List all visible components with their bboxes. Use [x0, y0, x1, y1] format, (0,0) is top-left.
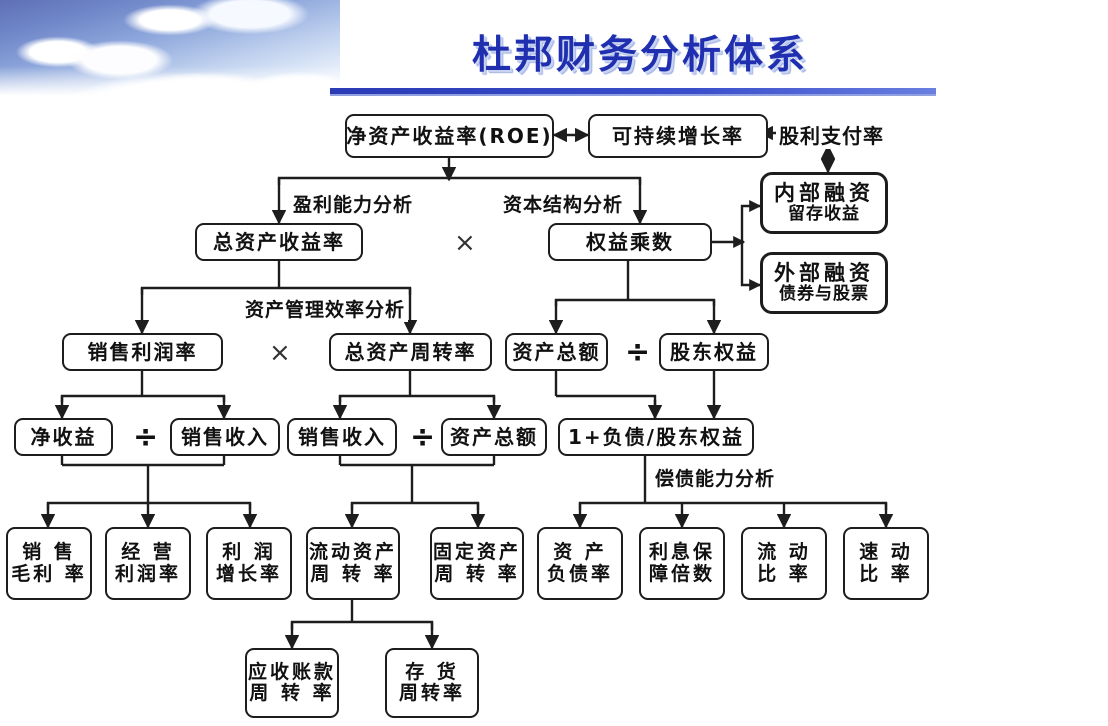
node-fixed-asset-turnover-line2: 周 转 率	[434, 564, 519, 585]
node-roa[interactable]: 总资产收益率	[195, 223, 363, 261]
node-current-asset-turnover-line1: 流动资产	[309, 542, 397, 563]
node-receivables-turnover-line1: 应收账款	[248, 662, 336, 683]
node-external-financing-line2: 债券与股票	[779, 285, 869, 304]
node-current-ratio[interactable]: 流 动 比 率	[741, 527, 827, 600]
node-equity-multiplier-label: 权益乘数	[586, 231, 674, 253]
node-quick-ratio-line2: 比 率	[859, 564, 913, 585]
node-shareholders-equity[interactable]: 股东权益	[659, 333, 769, 371]
node-fixed-asset-turnover-line1: 固定资产	[433, 542, 521, 563]
node-internal-financing[interactable]: 内部融资 留存收益	[760, 172, 888, 234]
node-gross-margin-line2: 毛利 率	[11, 564, 87, 585]
label-solvency-analysis: 偿债能力分析	[652, 464, 778, 491]
node-revenue-2[interactable]: 销售收入	[287, 418, 397, 456]
node-shareholders-equity-label: 股东权益	[670, 341, 758, 363]
node-inventory-turnover-line2: 周转率	[399, 683, 465, 704]
node-current-ratio-line2: 比 率	[757, 564, 811, 585]
node-roe-label: 净资产收益率(ROE)	[346, 125, 552, 147]
node-quick-ratio-line1: 速 动	[859, 542, 913, 563]
node-net-profit-margin-label: 销售利润率	[88, 341, 198, 363]
node-debt-ratio[interactable]: 资 产 负债率	[537, 527, 623, 600]
node-debt-ratio-line1: 资 产	[553, 542, 607, 563]
node-interest-coverage-line2: 障倍数	[649, 564, 715, 585]
node-debt-to-equity[interactable]: 1+负债/股东权益	[558, 418, 754, 456]
node-total-asset-turnover[interactable]: 总资产周转率	[329, 333, 492, 371]
node-sustainable-growth[interactable]: 可持续增长率	[588, 114, 768, 158]
node-total-assets-1-label: 资产总额	[513, 341, 601, 363]
node-interest-coverage[interactable]: 利息保 障倍数	[639, 527, 725, 600]
label-asset-efficiency-analysis: 资产管理效率分析	[242, 295, 408, 322]
node-inventory-turnover[interactable]: 存 货 周转率	[385, 648, 479, 718]
node-total-assets-2[interactable]: 资产总额	[441, 418, 547, 456]
operator-multiply-2: ×	[267, 340, 293, 366]
node-external-financing[interactable]: 外部融资 债券与股票	[760, 252, 888, 314]
node-debt-ratio-line2: 负债率	[547, 564, 613, 585]
node-equity-multiplier[interactable]: 权益乘数	[548, 223, 712, 261]
node-gross-margin[interactable]: 销 售 毛利 率	[6, 527, 92, 600]
operator-divide-2: ÷	[131, 423, 160, 453]
node-revenue-1-label: 销售收入	[181, 426, 269, 448]
node-revenue-1[interactable]: 销售收入	[170, 418, 280, 456]
operator-divide-1: ÷	[623, 338, 652, 368]
node-roa-label: 总资产收益率	[213, 231, 345, 253]
node-profit-growth-line1: 利 润	[222, 542, 276, 563]
node-debt-to-equity-label: 1+负债/股东权益	[568, 426, 744, 448]
node-net-profit-margin[interactable]: 销售利润率	[62, 333, 223, 371]
node-quick-ratio[interactable]: 速 动 比 率	[843, 527, 929, 600]
node-receivables-turnover[interactable]: 应收账款 周 转 率	[245, 648, 339, 718]
node-total-assets-2-label: 资产总额	[450, 426, 538, 448]
node-total-assets-1[interactable]: 资产总额	[505, 333, 608, 371]
node-current-asset-turnover[interactable]: 流动资产 周 转 率	[306, 527, 400, 600]
label-capital-structure-analysis: 资本结构分析	[500, 190, 626, 217]
node-operating-margin-line2: 利润率	[115, 564, 181, 585]
node-gross-margin-line1: 销 售	[22, 542, 76, 563]
slide-canvas: 杜邦财务分析体系	[0, 0, 1108, 726]
node-sustainable-growth-label: 可持续增长率	[612, 125, 744, 147]
node-total-asset-turnover-label: 总资产周转率	[345, 341, 477, 363]
operator-divide-3: ÷	[408, 423, 437, 453]
node-current-ratio-line1: 流 动	[757, 542, 811, 563]
node-revenue-2-label: 销售收入	[298, 426, 386, 448]
node-interest-coverage-line1: 利息保	[649, 542, 715, 563]
node-external-financing-line1: 外部融资	[774, 262, 874, 286]
node-net-income[interactable]: 净收益	[14, 418, 113, 456]
node-current-asset-turnover-line2: 周 转 率	[310, 564, 395, 585]
node-operating-margin[interactable]: 经 营 利润率	[105, 527, 191, 600]
node-roe[interactable]: 净资产收益率(ROE)	[345, 114, 554, 158]
node-inventory-turnover-line1: 存 货	[405, 662, 459, 683]
node-profit-growth-line2: 增长率	[216, 564, 282, 585]
operator-multiply-1: ×	[452, 230, 478, 256]
label-profitability-analysis: 盈利能力分析	[290, 190, 416, 217]
node-internal-financing-line2: 留存收益	[788, 205, 860, 224]
node-net-income-label: 净收益	[31, 426, 97, 448]
node-internal-financing-line1: 内部融资	[774, 182, 874, 206]
node-fixed-asset-turnover[interactable]: 固定资产 周 转 率	[430, 527, 524, 600]
node-profit-growth[interactable]: 利 润 增长率	[206, 527, 292, 600]
node-dividend-payout-ratio: 股利支付率	[776, 120, 887, 149]
node-receivables-turnover-line2: 周 转 率	[249, 683, 334, 704]
node-operating-margin-line1: 经 营	[121, 542, 175, 563]
